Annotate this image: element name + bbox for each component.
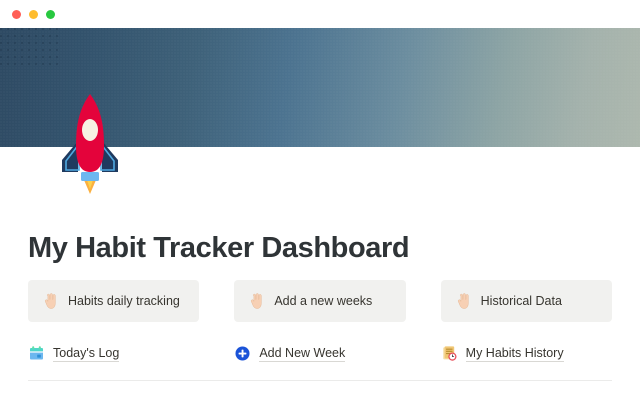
card-historical-data[interactable]: Historical Data [441,280,612,322]
shortcut-card-row: Habits daily tracking Add a new weeks Hi… [28,280,612,322]
section-divider [28,380,612,381]
close-window-button[interactable] [12,10,21,19]
link-add-new-week[interactable]: Add New Week [234,345,405,362]
backhand-index-pointing-down-icon [248,293,265,310]
minimize-window-button[interactable] [29,10,38,19]
backhand-index-pointing-down-icon [455,293,472,310]
app-window: My Habit Tracker Dashboard Habits daily … [0,0,640,400]
link-todays-log[interactable]: Today's Log [28,345,199,362]
plus-circle-icon [234,345,251,362]
spiral-calendar-icon [28,345,45,362]
banner-speckle [0,28,60,68]
link-my-habits-history[interactable]: My Habits History [441,345,612,362]
card-index-clock-icon [441,345,458,362]
window-titlebar [0,0,640,28]
card-label: Add a new weeks [274,294,372,308]
maximize-window-button[interactable] [46,10,55,19]
link-label: My Habits History [466,346,564,362]
rocket-icon[interactable] [48,88,132,194]
link-label: Today's Log [53,346,119,362]
page-link-row: Today's Log Add New Week [28,345,612,362]
card-label: Historical Data [481,294,562,308]
link-label: Add New Week [259,346,345,362]
backhand-index-pointing-down-icon [42,293,59,310]
card-habits-daily-tracking[interactable]: Habits daily tracking [28,280,199,322]
card-label: Habits daily tracking [68,294,180,308]
page-title: My Habit Tracker Dashboard [28,234,409,263]
card-add-a-new-weeks[interactable]: Add a new weeks [234,280,405,322]
